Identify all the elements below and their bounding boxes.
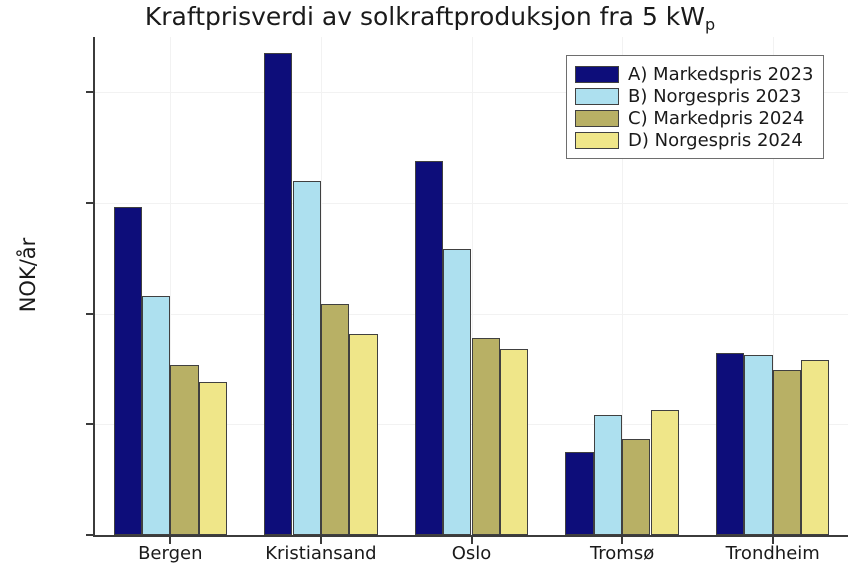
legend-item[interactable]: A) Markedspris 2023 (575, 63, 813, 85)
chart-title-subscript: p (705, 15, 715, 34)
bar (293, 181, 321, 535)
bar (773, 370, 801, 535)
bar (716, 353, 744, 535)
bar (321, 304, 349, 536)
bar (415, 161, 443, 535)
bar (349, 334, 377, 535)
legend-color-swatch (575, 132, 619, 149)
bar (565, 452, 593, 535)
legend-item[interactable]: B) Norgespris 2023 (575, 85, 813, 107)
bar (472, 338, 500, 535)
bar (142, 296, 170, 535)
y-axis-label: NOK/år (16, 175, 40, 375)
bar (594, 415, 622, 535)
legend-item-label: A) Markedspris 2023 (628, 64, 813, 85)
legend-item[interactable]: C) Markedpris 2024 (575, 107, 813, 129)
bar (622, 439, 650, 535)
y-axis-tick (86, 202, 94, 204)
bar (801, 360, 829, 535)
bar (443, 249, 471, 535)
chart-title-main: Kraftprisverdi av solkraftproduksjon fra… (145, 2, 705, 31)
bar (500, 349, 528, 535)
chart-title: Kraftprisverdi av solkraftproduksjon fra… (0, 2, 860, 31)
bar (114, 207, 142, 535)
legend-color-swatch (575, 110, 619, 127)
figure-canvas: Kraftprisverdi av solkraftproduksjon fra… (0, 0, 860, 573)
bar (170, 365, 198, 535)
bar (651, 410, 679, 535)
y-axis-tick (86, 313, 94, 315)
legend-color-swatch (575, 66, 619, 83)
legend-item[interactable]: D) Norgespris 2024 (575, 129, 813, 151)
legend-item-label: B) Norgespris 2023 (628, 86, 801, 107)
y-axis-tick (86, 423, 94, 425)
y-axis-tick (86, 534, 94, 536)
x-axis-tick-label: Trondheim (673, 543, 860, 564)
legend-color-swatch (575, 88, 619, 105)
bar (744, 355, 772, 535)
chart-legend: A) Markedspris 2023B) Norgespris 2023C) … (566, 55, 824, 159)
legend-item-label: D) Norgespris 2024 (628, 130, 803, 151)
bar (199, 382, 227, 535)
y-axis-tick (86, 91, 94, 93)
bar (264, 53, 292, 535)
legend-item-label: C) Markedpris 2024 (628, 108, 804, 129)
